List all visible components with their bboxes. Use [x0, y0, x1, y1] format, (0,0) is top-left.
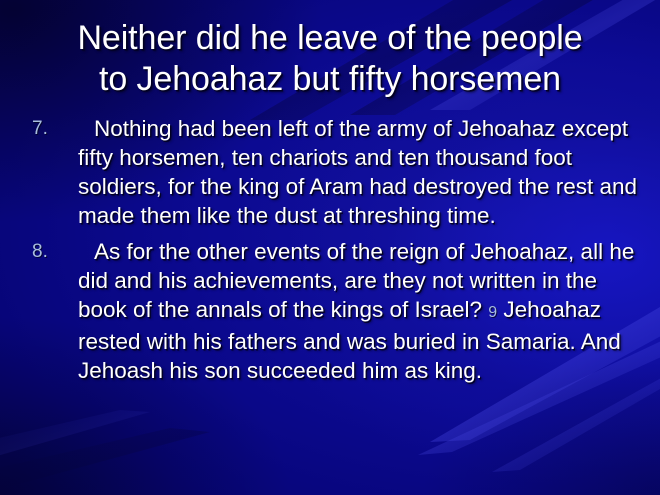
- slide-content: Neither did he leave of the people to Je…: [0, 0, 660, 495]
- verse-paragraph-7: 7.Nothing had been left of the army of J…: [24, 114, 642, 230]
- slide-body: 7.Nothing had been left of the army of J…: [24, 114, 642, 392]
- inline-verse-number-9: 9: [488, 304, 497, 321]
- verse-paragraph-8: 8.As for the other events of the reign o…: [24, 237, 642, 385]
- presentation-slide: Neither did he leave of the people to Je…: [0, 0, 660, 495]
- verse-marker-8: 8.: [32, 237, 66, 266]
- verse-text-7: Nothing had been left of the army of Jeh…: [78, 116, 637, 228]
- verse-marker-7: 7.: [32, 114, 66, 143]
- slide-title: Neither did he leave of the people to Je…: [0, 18, 660, 100]
